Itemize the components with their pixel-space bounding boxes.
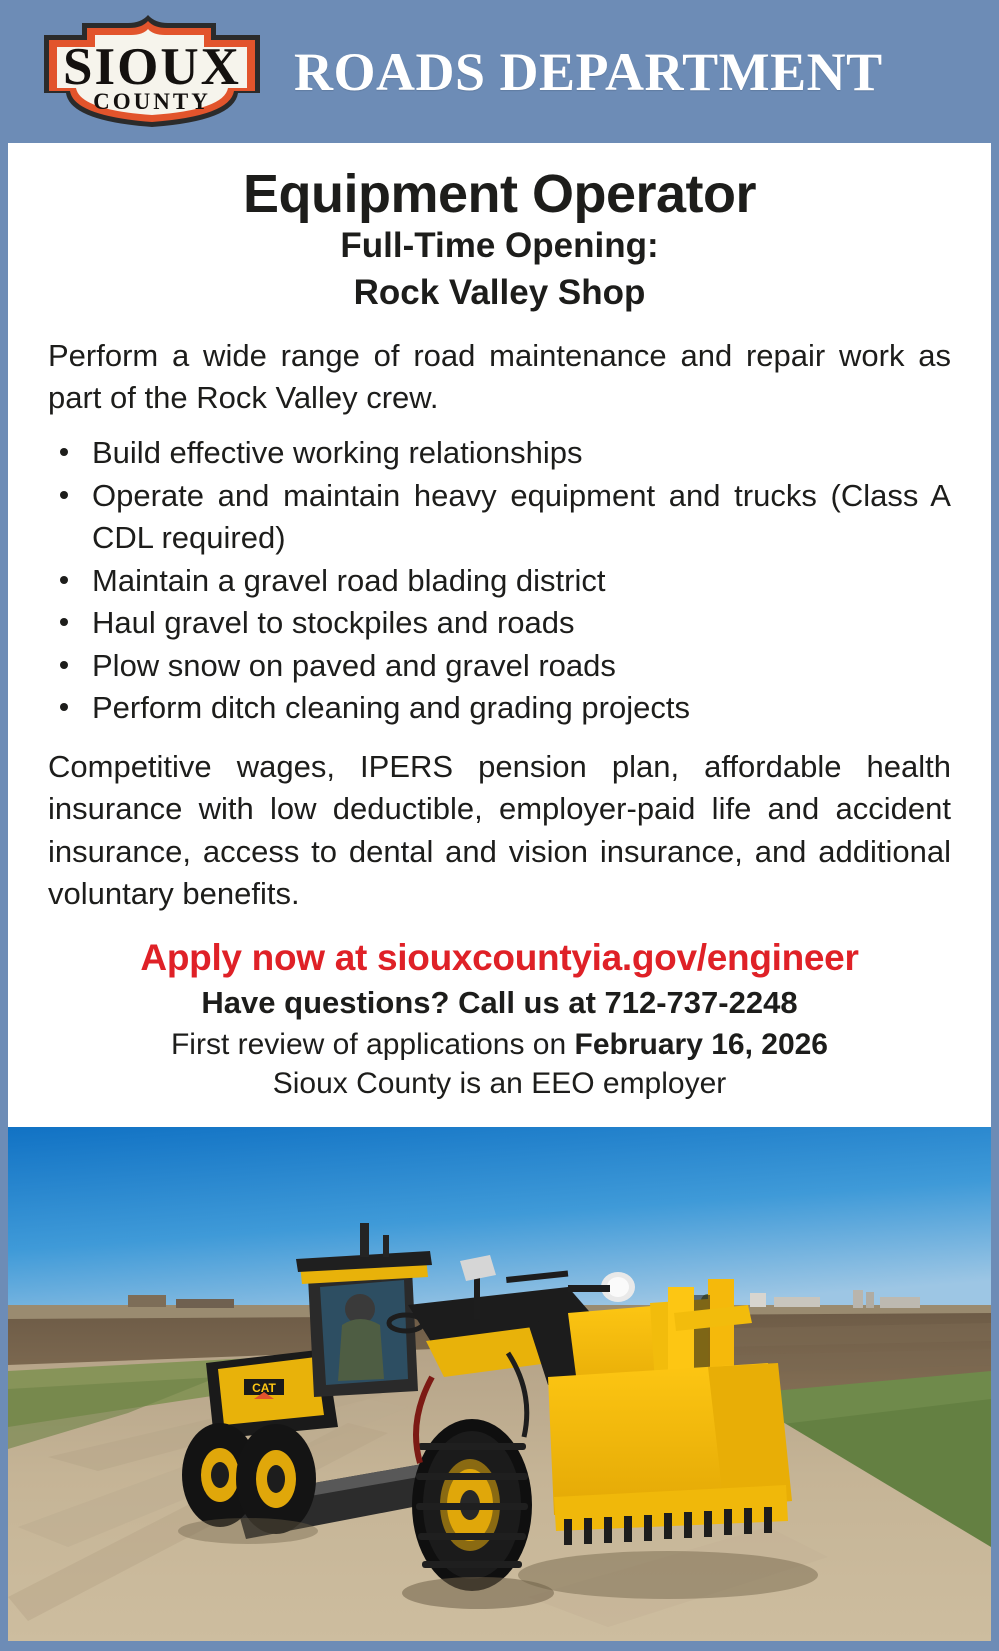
list-item: Maintain a gravel road blading district — [48, 560, 951, 602]
content-card: Equipment Operator Full-Time Opening: Ro… — [8, 143, 991, 1127]
duty-text: Operate and maintain heavy equipment and… — [92, 478, 951, 555]
bullet-icon — [60, 661, 68, 669]
list-item: Plow snow on paved and gravel roads — [48, 645, 951, 687]
bullet-icon — [60, 491, 68, 499]
list-item: Haul gravel to stockpiles and roads — [48, 602, 951, 644]
bullet-icon — [60, 448, 68, 456]
contact-phone-line: Have questions? Call us at 712-737-2248 — [48, 985, 951, 1021]
duty-text: Perform ditch cleaning and grading proje… — [92, 690, 690, 725]
duty-text: Maintain a gravel road blading district — [92, 563, 606, 598]
sioux-county-shield-logo: SIOUX COUNTY — [38, 13, 266, 131]
svg-text:SIOUX: SIOUX — [63, 38, 241, 96]
list-item: Operate and maintain heavy equipment and… — [48, 475, 951, 560]
motor-grader-photo: CAT — [8, 1127, 991, 1641]
job-posting-flyer: SIOUX COUNTY ROADS DEPARTMENT Equipment … — [0, 0, 999, 1651]
duties-list: Build effective working relationships Op… — [48, 432, 951, 729]
flyer-header: SIOUX COUNTY ROADS DEPARTMENT — [0, 0, 999, 143]
eeo-statement: Sioux County is an EEO employer — [48, 1067, 951, 1102]
bullet-icon — [60, 703, 68, 711]
bullet-icon — [60, 618, 68, 626]
bullet-icon — [60, 576, 68, 584]
review-date: February 16, 2026 — [575, 1028, 829, 1061]
duty-text: Build effective working relationships — [92, 435, 583, 470]
location-shop: Rock Valley Shop — [48, 270, 951, 316]
svg-text:COUNTY: COUNTY — [93, 89, 211, 114]
review-date-line: First review of applications on February… — [48, 1028, 951, 1063]
list-item: Perform ditch cleaning and grading proje… — [48, 687, 951, 729]
intro-paragraph: Perform a wide range of road maintenance… — [48, 335, 951, 419]
apply-link[interactable]: Apply now at siouxcountyia.gov/engineer — [48, 938, 951, 979]
review-prefix: First review of applications on — [171, 1028, 575, 1061]
opening-type: Full-Time Opening: — [48, 223, 951, 269]
department-title: ROADS DEPARTMENT — [294, 45, 883, 99]
duty-text: Haul gravel to stockpiles and roads — [92, 605, 574, 640]
benefits-paragraph: Competitive wages, IPERS pension plan, a… — [48, 746, 951, 916]
job-title: Equipment Operator — [48, 165, 951, 223]
duty-text: Plow snow on paved and gravel roads — [92, 648, 616, 683]
list-item: Build effective working relationships — [48, 432, 951, 474]
